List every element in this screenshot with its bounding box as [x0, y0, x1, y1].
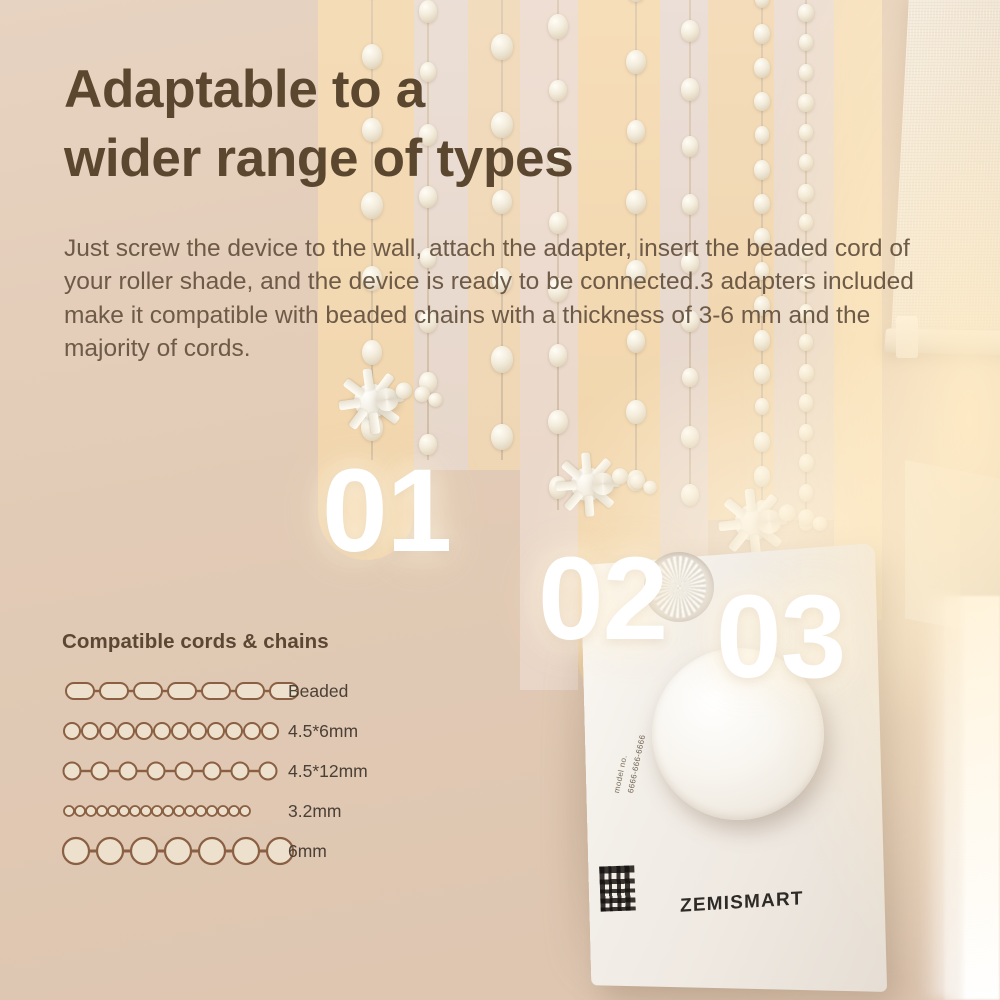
step-number-03: 03 — [716, 578, 845, 696]
page-title-line: Adaptable to a — [64, 56, 724, 125]
step-number-02: 02 — [538, 540, 667, 658]
legend-label: 4.5*6mm — [282, 721, 358, 742]
chain-diagram — [62, 794, 278, 828]
bead — [681, 20, 699, 42]
description-paragraph: Just screw the device to the wall, attac… — [64, 232, 926, 365]
chain-diagram — [62, 754, 278, 788]
bead — [682, 194, 699, 215]
compatible-cords-legend: Compatible cords & chains Beaded4.5*6mm4… — [62, 630, 482, 871]
page-title: Adaptable to awider range of types — [64, 56, 724, 194]
page-title-line: wider range of types — [64, 125, 724, 194]
legend-row: Beaded — [62, 671, 482, 711]
right-warm-glow — [740, 0, 1000, 1000]
legend-row: 6mm — [62, 831, 482, 871]
bead — [549, 212, 567, 234]
legend-label: Beaded — [282, 681, 348, 702]
chain-round-small-icon — [62, 791, 282, 831]
chain-oval-large-icon — [62, 671, 282, 711]
legend-label: 6mm — [282, 841, 327, 862]
legend-row: 4.5*12mm — [62, 751, 482, 791]
bead — [419, 0, 437, 23]
legend-row: 4.5*6mm — [62, 711, 482, 751]
legend-label: 4.5*12mm — [282, 761, 368, 782]
chain-round-big-icon — [62, 831, 282, 871]
chain-round-spaced-icon — [62, 751, 282, 791]
legend-row: 3.2mm — [62, 791, 482, 831]
legend-label: 3.2mm — [282, 801, 341, 822]
chain-round-tight-icon — [62, 711, 282, 751]
adapter-piece-01 — [325, 357, 441, 445]
step-number-01: 01 — [322, 452, 451, 570]
adapter-tooth — [348, 408, 368, 430]
bead — [361, 192, 383, 219]
adapter-tooth — [362, 368, 374, 390]
bead — [627, 0, 645, 2]
chain-diagram — [62, 714, 278, 748]
legend-title: Compatible cords & chains — [62, 630, 482, 654]
chain-diagram — [62, 674, 278, 708]
qr-code-icon — [599, 865, 636, 911]
chain-diagram — [62, 834, 278, 868]
promo-graphic: model no. 6666-666-6666 ZEMISMART 01 02 … — [0, 0, 1000, 1000]
bead — [491, 424, 512, 450]
bead — [548, 14, 568, 39]
